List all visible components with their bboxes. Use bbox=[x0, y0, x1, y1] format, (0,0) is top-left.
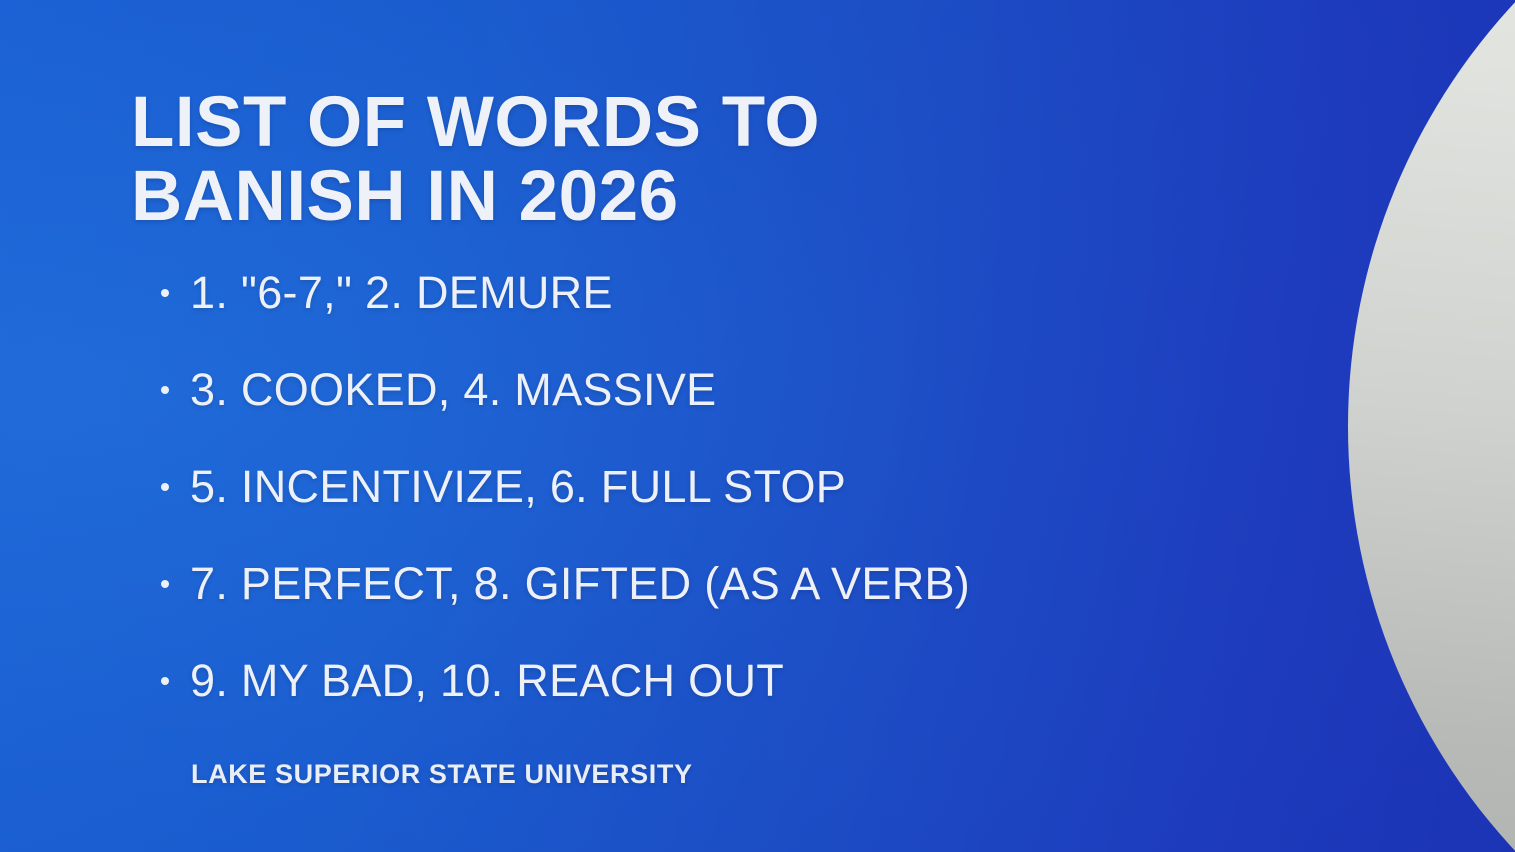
list-item-label: 1. "6-7," 2. DEMURE bbox=[190, 267, 613, 318]
bullet-dot-icon bbox=[161, 483, 169, 491]
word-list: 1. "6-7," 2. DEMURE 3. COOKED, 4. MASSIV… bbox=[157, 262, 1277, 747]
decorative-circle-shape bbox=[1348, 0, 1515, 852]
list-item: 5. INCENTIVIZE, 6. FULL STOP bbox=[157, 456, 1277, 553]
presentation-slide: List of Words to Banish in 2026 1. "6-7,… bbox=[0, 0, 1515, 852]
slide-content-area: List of Words to Banish in 2026 1. "6-7,… bbox=[0, 0, 1348, 852]
bullet-dot-icon bbox=[161, 677, 169, 685]
list-item-label: 7. PERFECT, 8. GIFTED (AS A VERB) bbox=[190, 558, 970, 609]
list-item-label: 3. COOKED, 4. MASSIVE bbox=[190, 364, 716, 415]
list-item: 9. MY BAD, 10. REACH OUT bbox=[157, 650, 1277, 747]
slide-title: List of Words to Banish in 2026 bbox=[131, 86, 891, 234]
list-item: 7. PERFECT, 8. GIFTED (AS A VERB) bbox=[157, 553, 1277, 650]
bullet-dot-icon bbox=[161, 580, 169, 588]
bullet-dot-icon bbox=[161, 289, 169, 297]
list-item-label: 5. INCENTIVIZE, 6. FULL STOP bbox=[190, 461, 846, 512]
list-item-label: 9. MY BAD, 10. REACH OUT bbox=[190, 655, 784, 706]
bullet-dot-icon bbox=[161, 386, 169, 394]
list-item: 3. COOKED, 4. MASSIVE bbox=[157, 359, 1277, 456]
list-item: 1. "6-7," 2. DEMURE bbox=[157, 262, 1277, 359]
source-attribution: Lake Superior State University bbox=[191, 757, 693, 791]
